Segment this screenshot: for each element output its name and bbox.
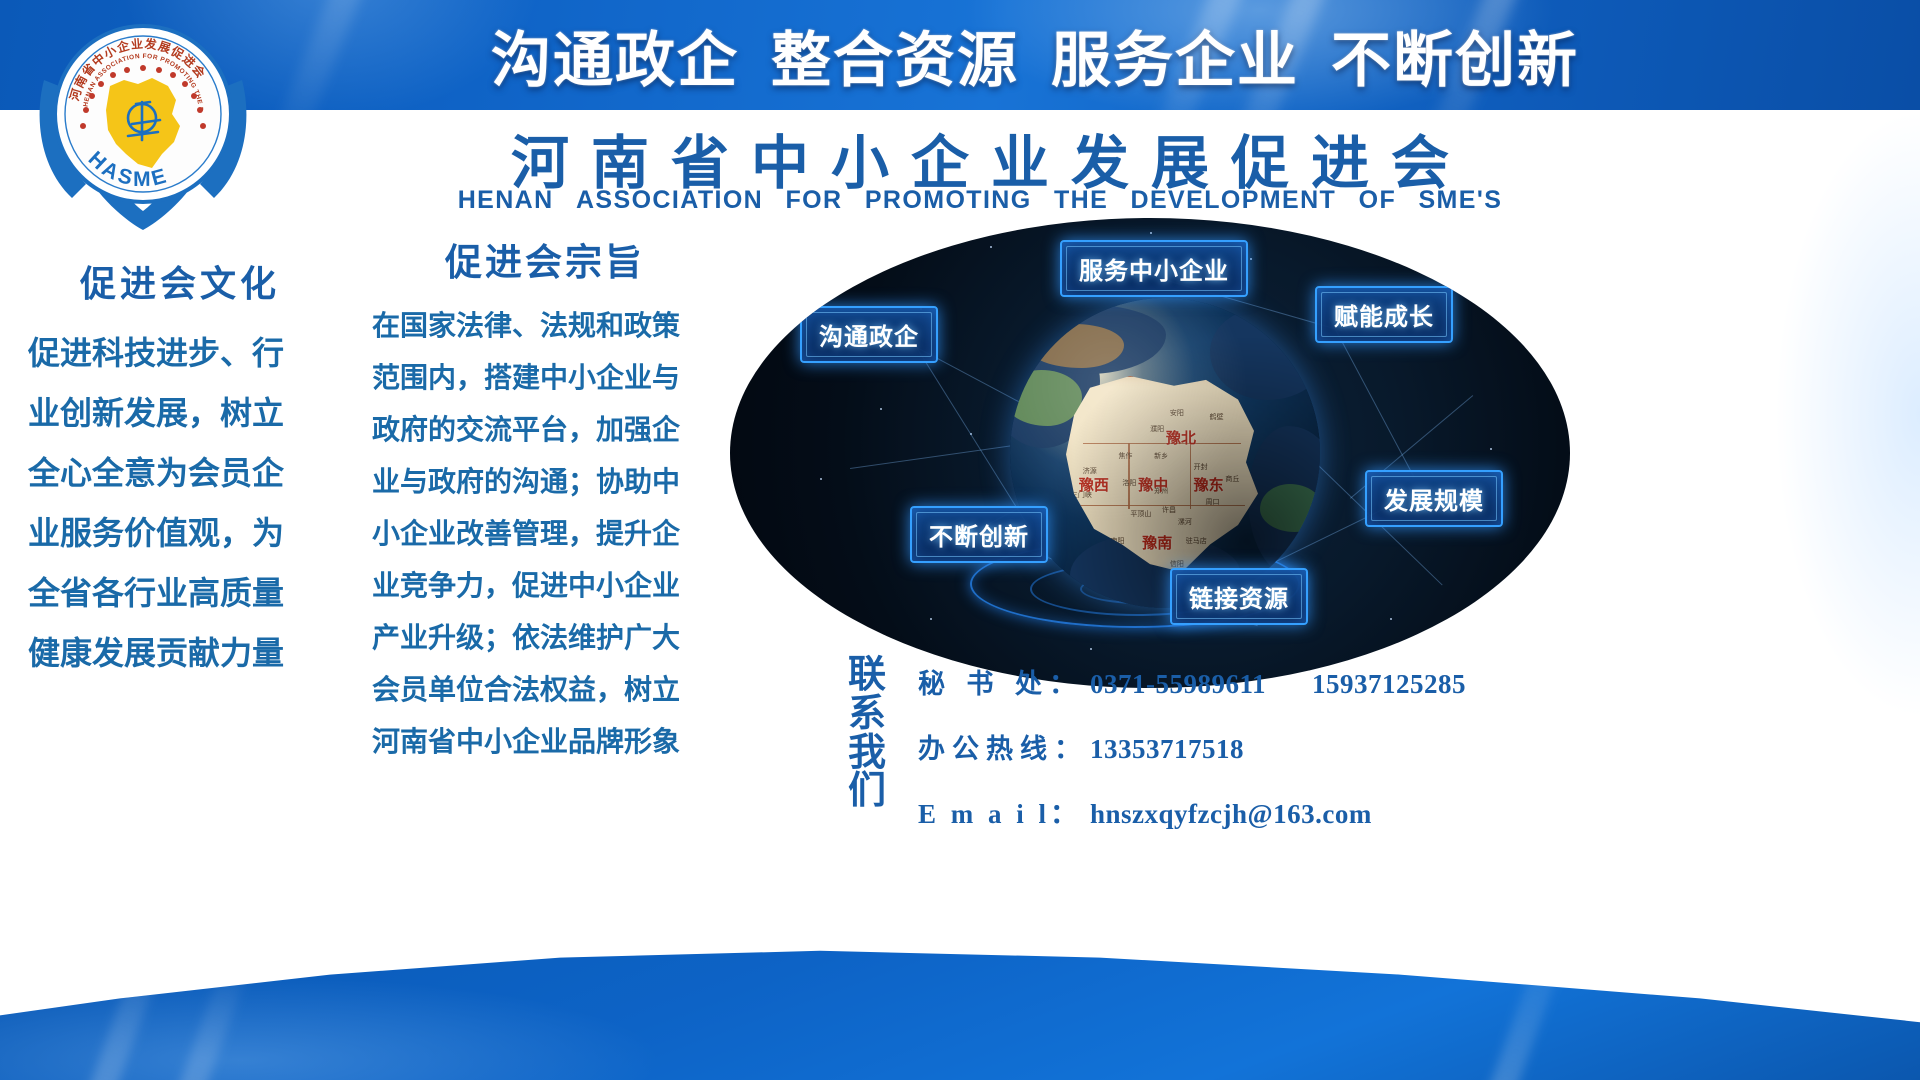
org-en-word-5: THE <box>1054 186 1108 214</box>
globe-graphic: 安阳 鹤壁 濮阳 焦作 新乡 济源 开封 商丘 洛阳 三门峡 郑州 许昌 周口 … <box>1010 298 1320 608</box>
org-en-word-6: DEVELOPMENT <box>1131 186 1337 214</box>
contact-email[interactable]: hnszxqyfzcjh@163.com <box>1090 799 1372 830</box>
purpose-line: 范围内，搭建中小企业与 <box>372 364 730 392</box>
banner-slogan: 沟通政企 整合资源 服务企业 不断创新 <box>0 0 1920 110</box>
purpose-line: 业竞争力，促进中小企业 <box>372 572 730 600</box>
slogan-word-2: 整合资源 <box>771 12 1019 99</box>
contact-vertical-char: 我 <box>840 734 894 773</box>
contact-label: 秘 书 处： <box>918 662 1090 701</box>
contact-row-secretariat: 秘 书 处： 0371-55989611 15937125285 <box>918 662 1558 701</box>
logo-graphic-icon: 河南省中小企业发展促进会 HENAN ASSOCIATION FOR PROMO… <box>28 18 258 230</box>
light-streak-icon <box>1481 892 1584 1080</box>
poster-canvas: 沟通政企 整合资源 服务企业 不断创新 河南省中小企业发展促进会 HENAN A… <box>0 0 1920 1080</box>
contact-block: 联系我们 秘 书 处： 0371-55989611 15937125285 办公… <box>840 648 1560 848</box>
globe-scene: 安阳 鹤壁 濮阳 焦作 新乡 济源 开封 商丘 洛阳 三门峡 郑州 许昌 周口 … <box>730 218 1570 688</box>
purpose-heading: 促进会宗旨 <box>360 232 730 286</box>
org-en-word-3: FOR <box>786 186 843 214</box>
callout-fa-zhan-gui-mo[interactable]: 发展规模 <box>1365 470 1503 527</box>
purpose-line: 在国家法律、法规和政策 <box>372 312 730 340</box>
purpose-line: 会员单位合法权益，树立 <box>372 676 730 704</box>
light-streak-icon <box>81 892 184 1080</box>
culture-heading: 促进会文化 <box>10 255 350 307</box>
contact-vertical-label: 联系我们 <box>840 656 894 811</box>
contact-row-email: E m a i l： hnszxqyfzcjh@163.com <box>918 792 1558 831</box>
org-name-en: HENAN ASSOCIATION FOR PROMOTING THE DEVE… <box>390 186 1570 215</box>
org-en-word-4: PROMOTING <box>865 186 1032 214</box>
culture-column: 促进会文化 促进科技进步、行 业创新发展，树立 全心全意为会员企 业服务价值观，… <box>10 255 350 697</box>
org-en-word-1: HENAN <box>458 186 554 214</box>
bottom-wave <box>0 910 1920 1080</box>
contact-phone-primary[interactable]: 0371-55989611 <box>1090 669 1266 700</box>
purpose-line: 业与政府的沟通；协助中 <box>372 468 730 496</box>
purpose-column: 促进会宗旨 在国家法律、法规和政策 范围内，搭建中小企业与 政府的交流平台，加强… <box>360 232 730 780</box>
culture-line: 促进科技进步、行 <box>28 337 350 369</box>
org-en-word-2: ASSOCIATION <box>576 186 763 214</box>
purpose-line: 河南省中小企业品牌形象 <box>372 728 730 756</box>
contact-phone-secondary[interactable]: 15937125285 <box>1312 669 1466 700</box>
callout-gou-tong-zheng-qi[interactable]: 沟通政企 <box>800 306 938 363</box>
org-en-word-8: SME'S <box>1418 186 1502 214</box>
slogan-word-3: 服务企业 <box>1051 12 1299 99</box>
contact-row-hotline: 办公热线： 13353717518 <box>918 727 1558 766</box>
contact-vertical-char: 系 <box>840 695 894 734</box>
top-banner: 沟通政企 整合资源 服务企业 不断创新 <box>0 0 1920 110</box>
slogan-word-1: 沟通政企 <box>491 12 739 99</box>
org-en-word-7: OF <box>1359 186 1397 214</box>
purpose-line: 政府的交流平台，加强企 <box>372 416 730 444</box>
hasme-logo: 河南省中小企业发展促进会 HENAN ASSOCIATION FOR PROMO… <box>28 6 258 234</box>
contact-hotline[interactable]: 13353717518 <box>1090 734 1244 765</box>
culture-line: 业服务价值观，为 <box>28 517 350 549</box>
purpose-line: 小企业改善管理，提升企 <box>372 520 730 548</box>
contact-vertical-char: 们 <box>840 772 894 811</box>
contact-vertical-char: 联 <box>840 656 894 695</box>
callout-bu-duan-chuang-xin[interactable]: 不断创新 <box>910 506 1048 563</box>
callout-lian-jie-zi-yuan[interactable]: 链接资源 <box>1170 568 1308 625</box>
contact-label: E m a i l： <box>918 792 1090 831</box>
culture-line: 全心全意为会员企 <box>28 457 350 489</box>
purpose-line: 产业升级；依法维护广大 <box>372 624 730 652</box>
culture-line: 全省各行业高质量 <box>28 577 350 609</box>
contact-rows: 秘 书 处： 0371-55989611 15937125285 办公热线： 1… <box>918 662 1558 857</box>
callout-fu-neng-cheng-zhang[interactable]: 赋能成长 <box>1315 286 1453 343</box>
culture-line: 健康发展贡献力量 <box>28 637 350 669</box>
callout-fu-wu-zhong-xiao-qi-ye[interactable]: 服务中小企业 <box>1060 240 1248 297</box>
light-streak-icon <box>170 941 256 1080</box>
contact-label: 办公热线： <box>918 727 1090 766</box>
culture-line: 业创新发展，树立 <box>28 397 350 429</box>
slogan-word-4: 不断创新 <box>1331 12 1579 99</box>
